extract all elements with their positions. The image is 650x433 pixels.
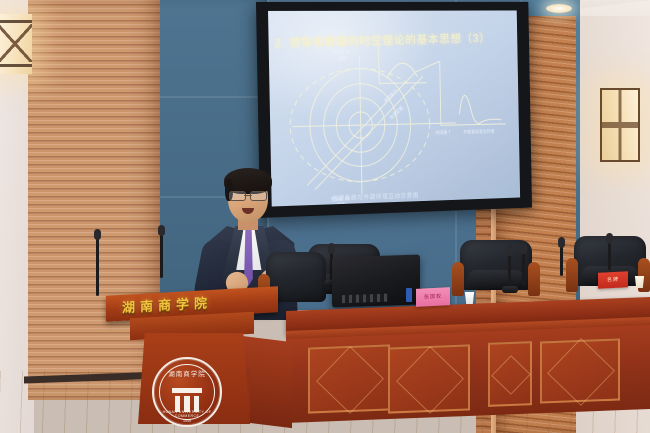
- floor-microphone-2: [160, 232, 163, 278]
- name-card-2: 名牌: [598, 271, 628, 289]
- podium: 湖南商学院 湖南商学院 HUNAN UNIVERSITY OF COMMERCE…: [100, 291, 282, 433]
- desk-microphone-4: [560, 244, 563, 276]
- ceiling-downlight: [546, 4, 572, 13]
- emblem-year: 1949: [154, 419, 220, 423]
- desk-microphone-3: [522, 250, 525, 286]
- desk-microphone-5: [608, 240, 611, 270]
- desk-microphone-base-2: [502, 286, 518, 293]
- svg-text:外部复杂变化环境: 外部复杂变化环境: [463, 128, 495, 136]
- glasses-icon: [229, 191, 267, 200]
- svg-text:（战略）: （战略）: [334, 55, 350, 62]
- emblem-english-text: HUNAN UNIVERSITY OF COMMERCE: [154, 410, 220, 418]
- name-card-1: 张国权: [416, 287, 450, 307]
- emblem-chinese-text: 湖南商学院: [154, 368, 220, 378]
- emblem-gate-glyph: [172, 388, 202, 412]
- projection-screen-surface: 2. 领导和管理的时空理论的基本思想（3）: [268, 10, 520, 206]
- desk-panel-4: [540, 338, 620, 403]
- slide-diagram: 空间维 X1 （战略） 空间维 X2 （战术） 时间维 T 外部复杂变化环境 组…: [269, 39, 521, 206]
- desk-panel-2: [388, 344, 470, 413]
- floor-microphone: [96, 236, 99, 296]
- svg-text:空间维 X1: 空间维 X1: [332, 48, 351, 55]
- university-emblem-icon: 湖南商学院 HUNAN UNIVERSITY OF COMMERCE 1949: [152, 357, 222, 427]
- svg-text:时间维 T: 时间维 T: [435, 129, 451, 136]
- desk-microphone-2: [508, 252, 511, 286]
- desk-panel-3: [488, 341, 532, 407]
- desk-panel-1: [308, 344, 390, 413]
- wall-sconce-right-icon: [600, 88, 640, 162]
- lecture-hall-photo: 2. 领导和管理的时空理论的基本思想（3）: [0, 0, 650, 433]
- wall-sconce-left-icon: [0, 14, 32, 74]
